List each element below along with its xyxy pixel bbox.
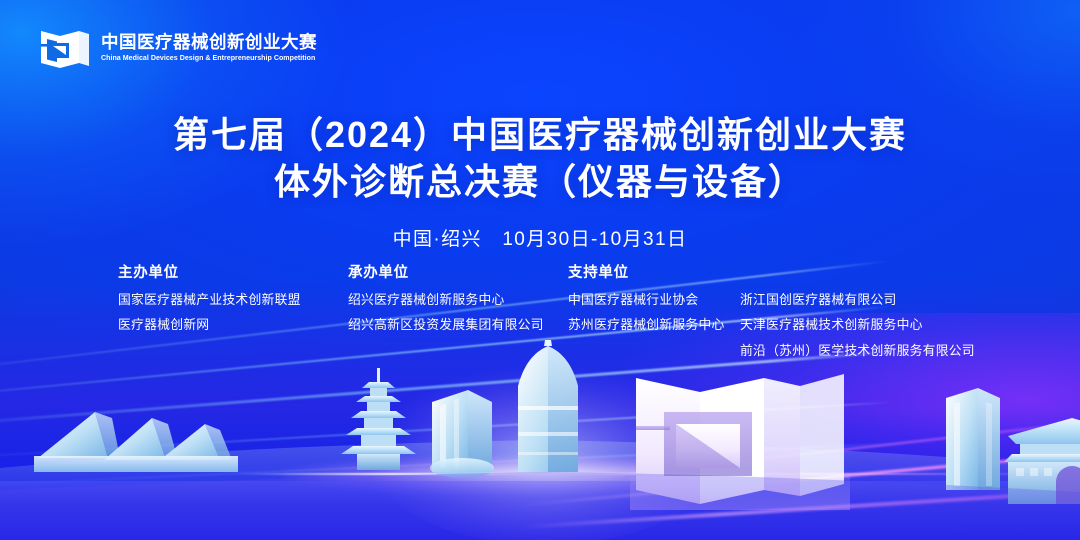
banner-poster: 中国医疗器械创新创业大赛 China Medical Devices Desig… (0, 0, 1080, 540)
title-line-1: 第七届（2024）中国医疗器械创新创业大赛 (0, 112, 1080, 159)
organizer-column-supporter: 支持单位 中国医疗器械行业协会 苏州医疗器械创新服务中心 (568, 266, 740, 371)
glass-tower-icon (946, 388, 1000, 490)
logo-english-name: China Medical Devices Design & Entrepren… (101, 53, 315, 64)
organizer-item: 绍兴医疗器械创新服务中心 (348, 294, 568, 307)
title-line-2: 体外诊断总决赛（仪器与设备） (0, 159, 1080, 206)
organizer-column-organizer: 承办单位 绍兴医疗器械创新服务中心 绍兴高新区投资发展集团有限公司 (348, 266, 568, 371)
organizer-item: 绍兴高新区投资发展集团有限公司 (348, 319, 568, 332)
organizer-heading: 承办单位 (348, 266, 568, 281)
organizer-item: 中国医疗器械行业协会 (568, 294, 740, 307)
open-book-logo-icon (38, 22, 92, 74)
competition-logo: 中国医疗器械创新创业大赛 China Medical Devices Desig… (38, 22, 322, 74)
title-block: 第七届（2024）中国医疗器械创新创业大赛 体外诊断总决赛（仪器与设备） 中国·… (0, 112, 1080, 251)
organizer-heading: 主办单位 (118, 266, 348, 281)
organizer-item: 苏州医疗器械创新服务中心 (568, 319, 740, 332)
organizer-item: 国家医疗器械产业技术创新联盟 (118, 294, 348, 307)
organizer-heading: 支持单位 (568, 266, 740, 281)
concert-hall-icon (34, 412, 238, 472)
logo-chinese-name: 中国医疗器械创新创业大赛 (101, 32, 322, 52)
organizer-item: 医疗器械创新网 (118, 319, 348, 332)
event-location-date: 中国·绍兴 10月30日-10月31日 (0, 224, 1080, 251)
organizers-section: 主办单位 国家医疗器械产业技术创新联盟 医疗器械创新网 承办单位 绍兴医疗器械创… (118, 266, 1010, 371)
skyscraper-tower-icon (430, 390, 494, 478)
organizer-item: 天津医疗器械技术创新服务中心 (740, 319, 1010, 332)
logo-text-block: 中国医疗器械创新创业大赛 China Medical Devices Desig… (101, 32, 322, 63)
organizer-item: 前沿（苏州）医学技术创新服务有限公司 (740, 345, 1010, 358)
organizer-item: 浙江国创医疗器械有限公司 (740, 294, 1010, 307)
organizer-column-supporter-continued: 浙江国创医疗器械有限公司 天津医疗器械技术创新服务中心 前沿（苏州）医学技术创新… (740, 266, 1010, 371)
organizer-column-host: 主办单位 国家医疗器械产业技术创新联盟 医疗器械创新网 (118, 266, 348, 371)
